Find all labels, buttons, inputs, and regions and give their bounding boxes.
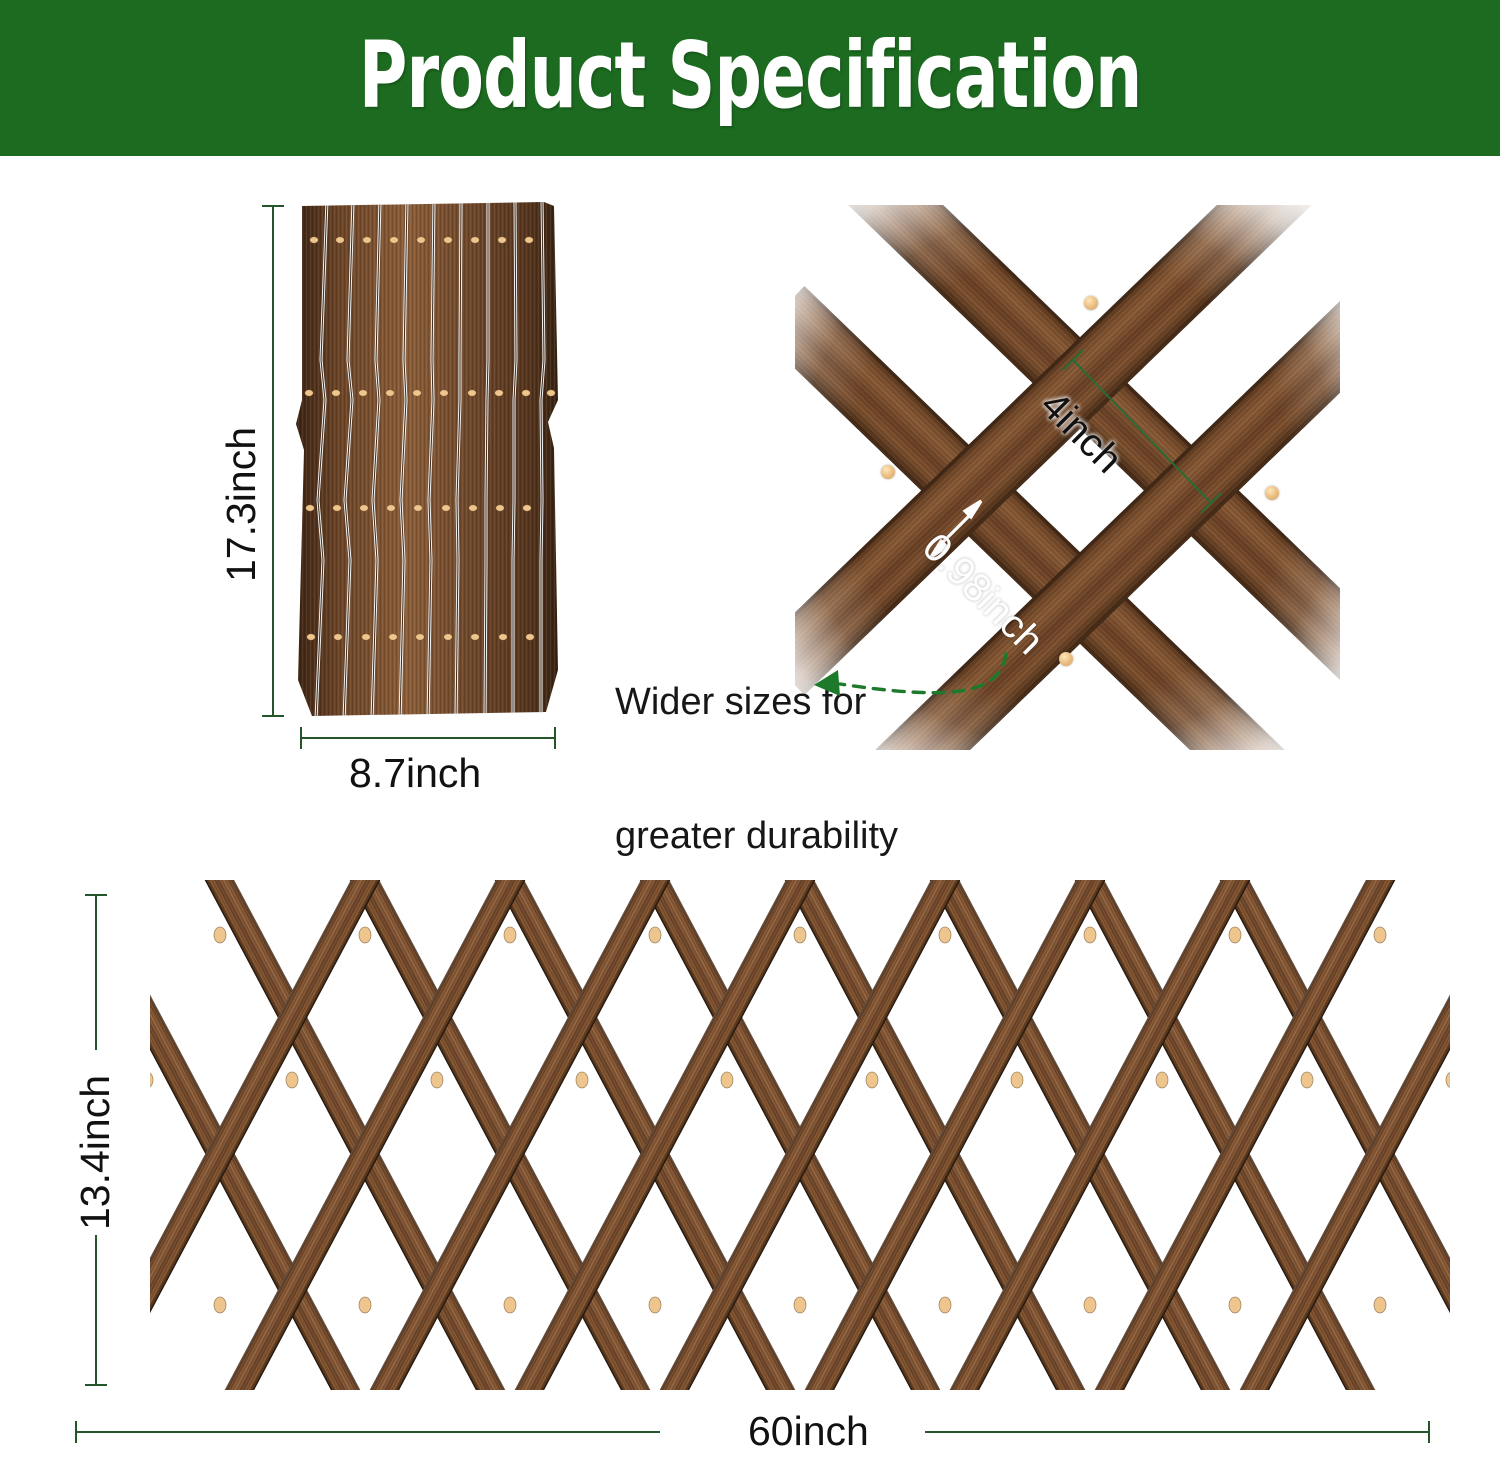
folded-trellis-image	[296, 200, 562, 720]
dimension-tick-left	[300, 727, 302, 749]
lattice-pin-top	[1084, 296, 1098, 310]
expanded-trellis-image	[150, 880, 1450, 1390]
dimension-line-horizontal-right	[925, 1431, 1430, 1433]
dimension-line-vertical	[272, 205, 274, 717]
lattice-pin-right	[1265, 486, 1279, 500]
dimension-line-horizontal	[300, 737, 556, 739]
header-banner: Product Specification	[0, 0, 1500, 156]
dimension-line-vertical-lower	[95, 1235, 97, 1385]
dimension-tick-top	[85, 894, 107, 896]
dimension-label-width-expanded: 60inch	[748, 1408, 869, 1455]
lattice-pin-bottom	[1059, 652, 1073, 666]
dimension-tick-left	[75, 1421, 77, 1443]
callout-arrow-icon	[800, 640, 1020, 720]
page-title: Product Specification	[359, 30, 1142, 122]
folded-trellis-svg	[296, 200, 562, 720]
dimension-line-vertical-upper	[95, 895, 97, 1050]
dimension-line-horizontal-left	[75, 1431, 660, 1433]
dimension-tick-right	[1428, 1421, 1430, 1443]
dimension-tick-bottom	[262, 715, 284, 717]
dimension-tick-top	[262, 205, 284, 207]
lattice-pin-left	[881, 465, 895, 479]
expanded-trellis-svg	[150, 880, 1450, 1390]
dimension-label-height-folded: 17.3inch	[218, 427, 265, 582]
product-specification-infographic: Product Specification	[0, 0, 1500, 1457]
durability-callout-line2: greater durability	[615, 814, 898, 859]
dimension-label-height-expanded: 13.4inch	[72, 1075, 119, 1230]
dimension-label-width-folded: 8.7inch	[349, 750, 481, 797]
dimension-tick-bottom	[85, 1384, 107, 1386]
dimension-tick-right	[554, 727, 556, 749]
